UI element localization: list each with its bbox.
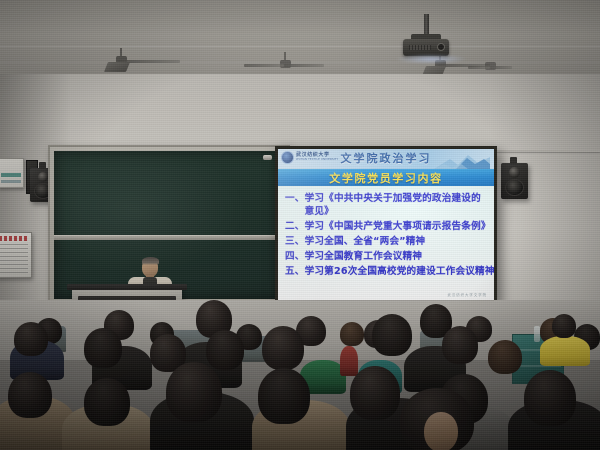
notice-board-lower: [0, 232, 32, 278]
audience-head: [14, 322, 48, 356]
audience-head: [84, 328, 122, 368]
audience-head: [8, 372, 52, 418]
audience-head: [524, 370, 576, 426]
audience-head: [340, 322, 364, 346]
audience-body: [340, 346, 358, 376]
seated-audience: [0, 300, 600, 450]
slide-item-number: 三、: [285, 235, 305, 248]
projection-screen: 武汉纺织大学 WUHAN TEXTILE UNIVERSITY 文学院政治学习 …: [275, 146, 497, 304]
slide-item-text: 学习《中国共产党重大事项请示报告条例》: [305, 220, 491, 233]
ceiling-projector: [396, 14, 456, 66]
slide-item-number: 四、: [285, 250, 305, 263]
audience-head: [552, 314, 576, 338]
audience-head: [350, 366, 400, 420]
notice-board-upper: [0, 158, 24, 188]
slide-masthead: 武汉纺织大学 WUHAN TEXTILE UNIVERSITY 文学院政治学习: [278, 149, 494, 169]
wall-speaker-right: [501, 163, 528, 199]
slide-item-number: 二、: [285, 220, 305, 233]
slide-body: 一、 学习《中共中央关于加强党的政治建设的意见》 二、 学习《中国共产党重大事项…: [278, 186, 494, 301]
slide-list-item: 二、 学习《中国共产党重大事项请示报告条例》: [285, 220, 489, 233]
ceiling-fan-left: [62, 48, 180, 76]
board-lamp-icon: [263, 155, 272, 160]
audience-head: [488, 340, 522, 374]
audience-head: [258, 368, 310, 424]
audience-head: [262, 326, 304, 370]
slide-item-number: 五、: [285, 265, 305, 278]
slide-item-text: 学习全国教育工作会议精神: [305, 250, 489, 263]
slide-title-bar: 文学院党员学习内容: [278, 169, 494, 186]
slide-list-item: 四、 学习全国教育工作会议精神: [285, 250, 489, 263]
ceiling-seam: [0, 46, 600, 47]
slide-list-item: 三、 学习全国、全省“两会”精神: [285, 235, 489, 248]
mountain-graphic-icon: [434, 153, 490, 169]
audience-head: [442, 326, 478, 364]
slide-list-item: 一、 学习《中共中央关于加强党的政治建设的意见》: [285, 192, 489, 218]
audience-head: [84, 378, 130, 426]
audience-head: [166, 362, 222, 422]
slide-item-text: 学习《中共中央关于加强党的政治建设的意见》: [305, 192, 489, 218]
slide-footer: 武汉纺织大学文学院: [447, 292, 487, 297]
lecture-hall-photo: 武汉纺织大学 WUHAN TEXTILE UNIVERSITY 文学院政治学习 …: [0, 0, 600, 450]
slide-item-text: 学习第26次全国高校党的建设工作会议精神: [305, 265, 494, 278]
slide-item-number: 一、: [285, 192, 305, 205]
projector-lens-icon: [437, 43, 445, 51]
wall-shading: [490, 74, 600, 324]
slide-list-item: 五、 学习第26次全国高校党的建设工作会议精神: [285, 265, 489, 278]
audience-head: [206, 330, 244, 370]
audience-head: [372, 314, 412, 356]
audience-body: [540, 336, 590, 366]
audience-face: [424, 412, 458, 450]
slide-title: 文学院党员学习内容: [329, 170, 442, 186]
slide-item-text: 学习全国、全省“两会”精神: [305, 235, 489, 248]
